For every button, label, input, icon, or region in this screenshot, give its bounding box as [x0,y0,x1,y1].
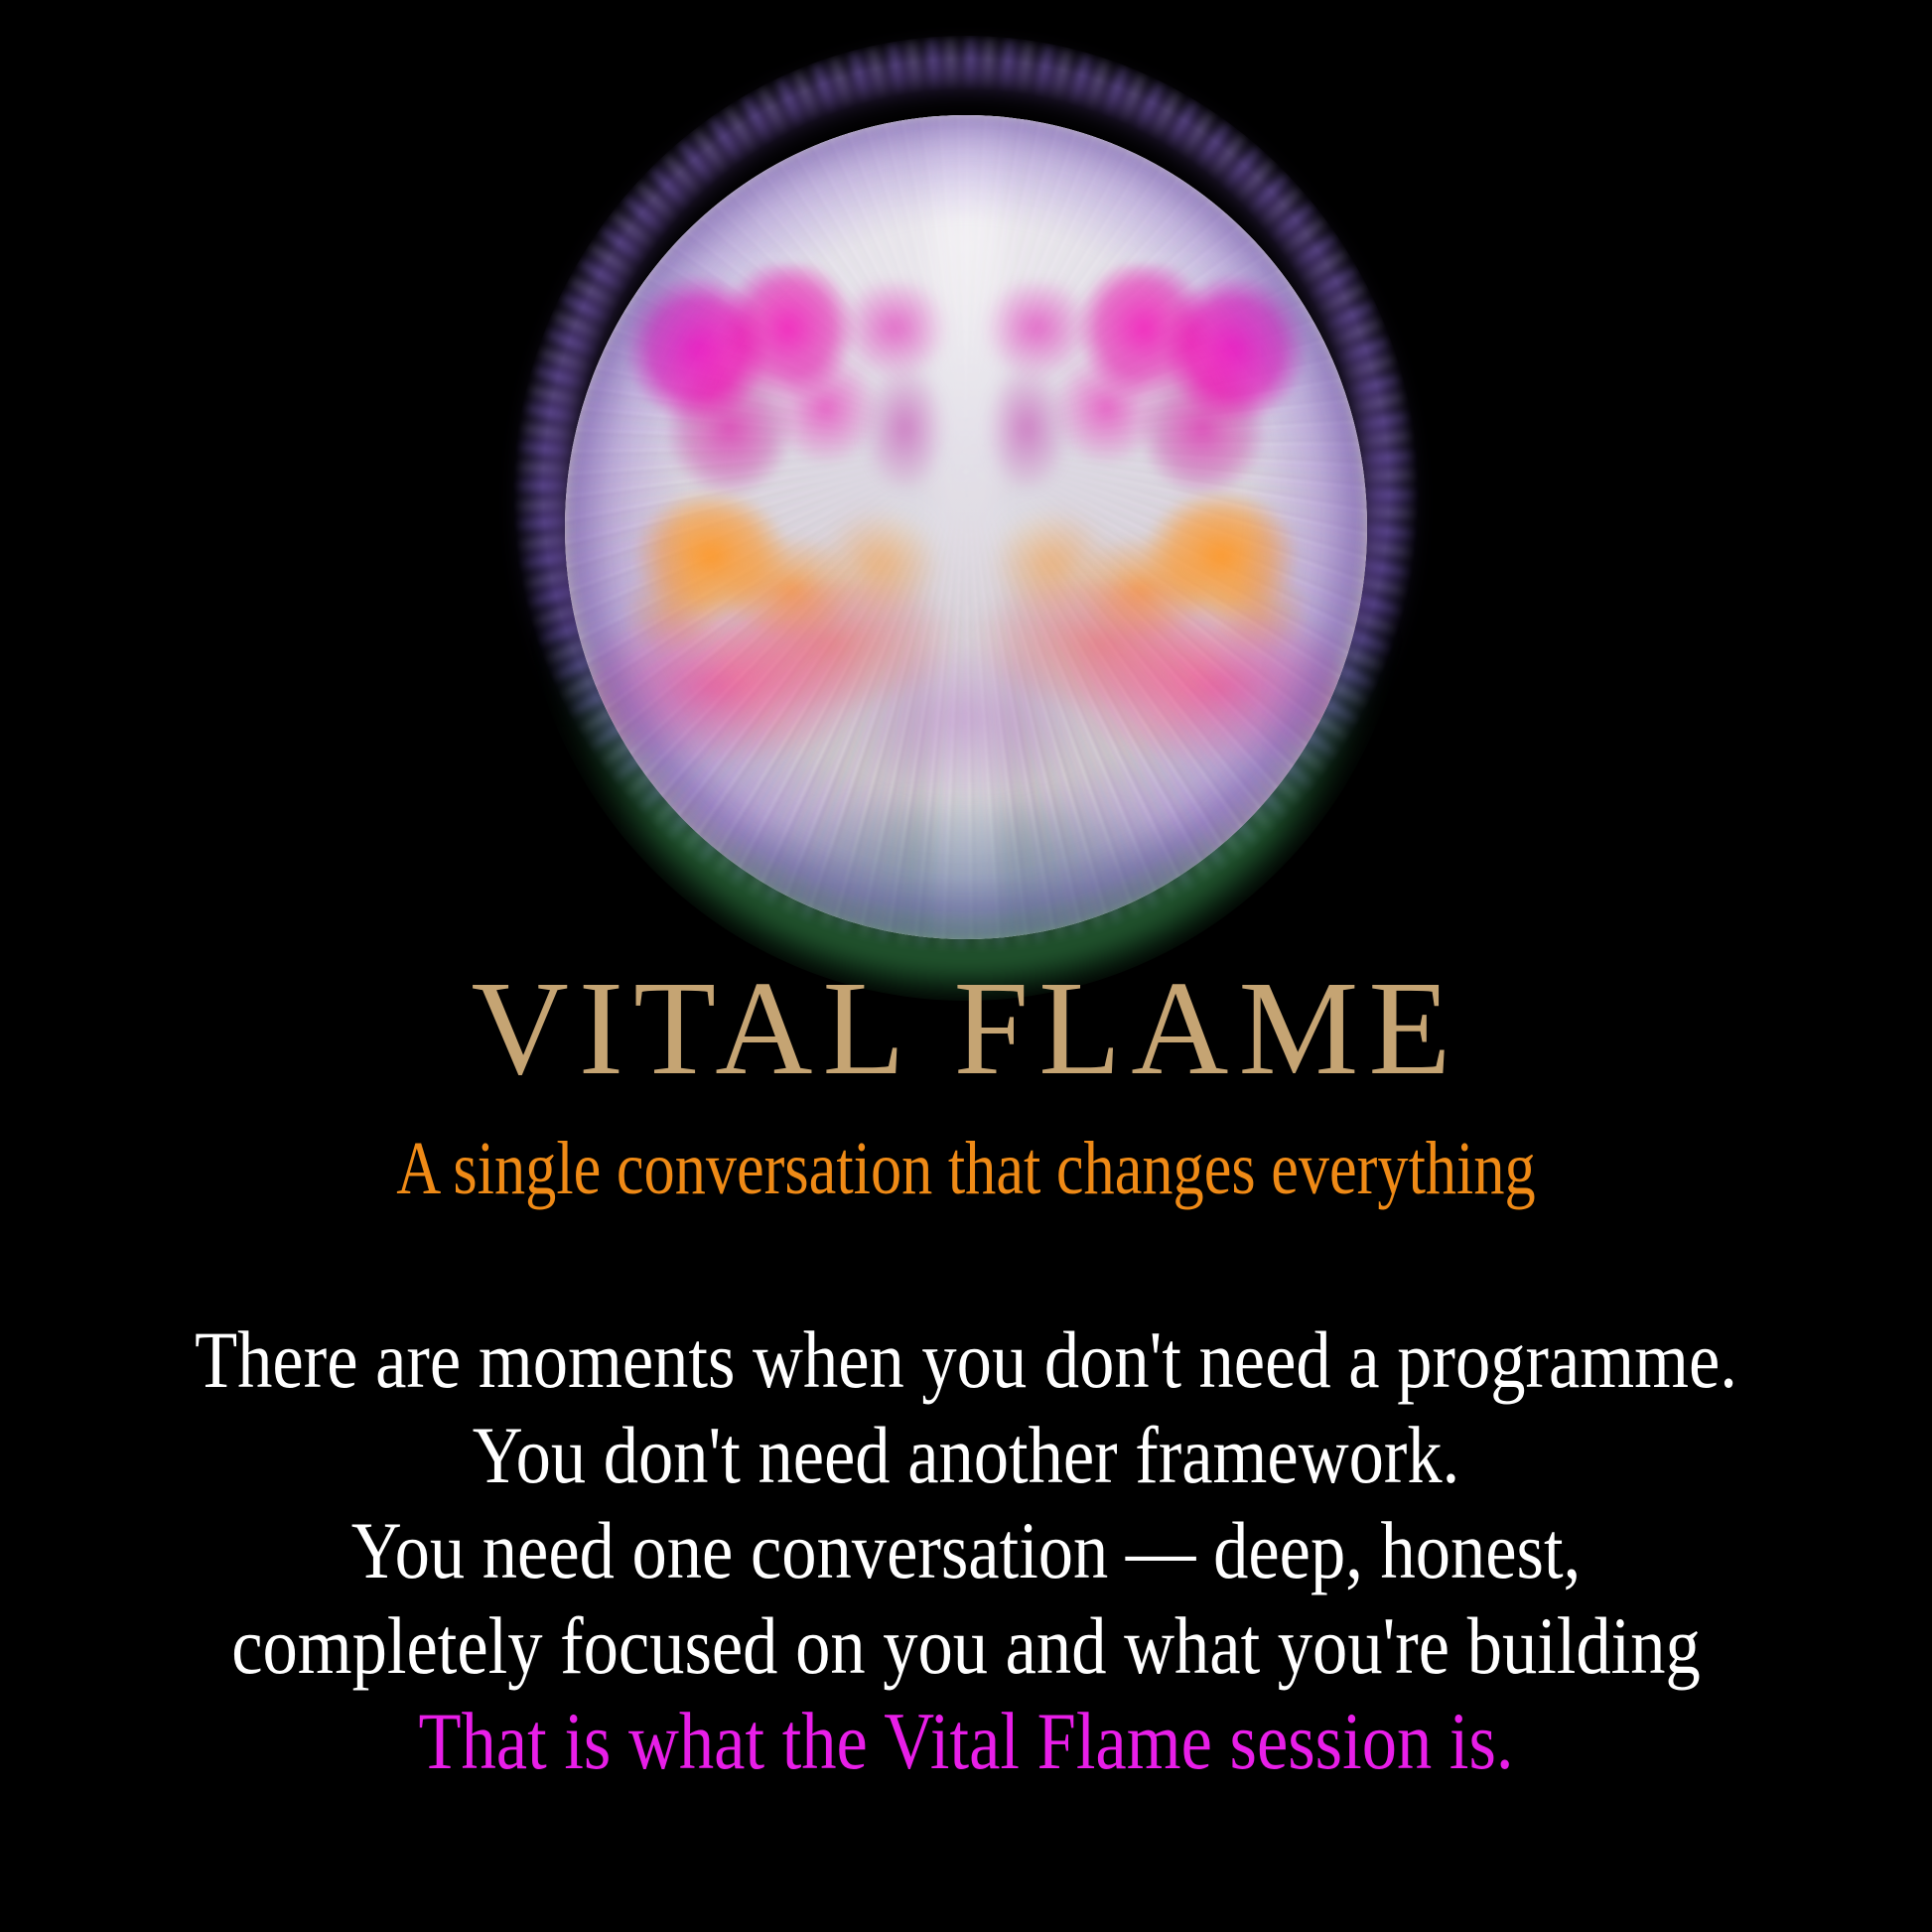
body-line-4: completely focused on you and what you'r… [135,1598,1797,1694]
page-subtitle: A single conversation that changes every… [174,1130,1758,1209]
orb-disc [565,115,1367,939]
orb-artwork [529,58,1403,961]
orb-artwork-stage [0,0,1932,1013]
body-copy: There are moments when you don't need a … [0,1312,1932,1789]
body-line-1: There are moments when you don't need a … [135,1312,1797,1408]
poster-canvas: VITAL FLAME A single conversation that c… [0,0,1932,1932]
page-title: VITAL FLAME [0,961,1932,1096]
body-line-2: You don't need another framework. [135,1408,1797,1503]
body-line-3: You need one conversation — deep, honest… [135,1503,1797,1598]
orb-vignette [565,115,1367,939]
closing-line: That is what the Vital Flame session is. [135,1694,1797,1789]
